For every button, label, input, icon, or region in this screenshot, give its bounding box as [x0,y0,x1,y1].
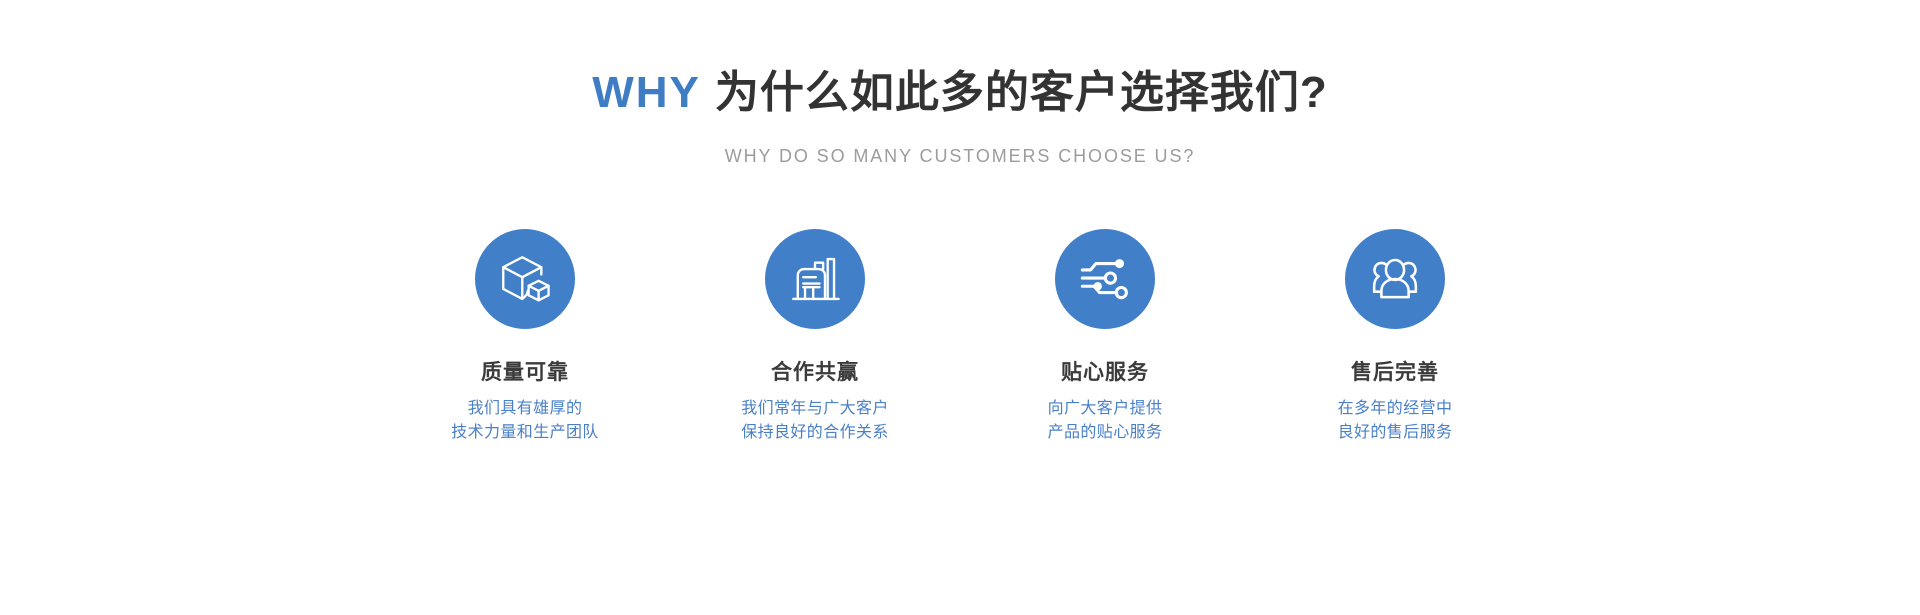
page-title: WHY为什么如此多的客户选择我们? [0,64,1920,122]
desc-line: 保持良好的合作关系 [741,421,889,445]
feature-card-title: 质量可靠 [481,360,569,386]
circuit-network-icon [1076,250,1134,308]
desc-line: 良好的售后服务 [1338,421,1453,445]
title-chinese-text: 为什么如此多的客户选择我们? [715,68,1328,117]
section-heading: WHY为什么如此多的客户选择我们? WHY DO SO MANY CUSTOME… [0,64,1920,167]
desc-line: 技术力量和生产团队 [451,421,599,445]
package-box-icon-circle [475,229,575,329]
desc-line: 产品的贴心服务 [1048,421,1163,445]
feature-card-description: 在多年的经营中 良好的售后服务 [1338,397,1453,445]
circuit-network-icon-circle [1055,229,1155,329]
feature-card-description: 我们具有雄厚的 技术力量和生产团队 [451,397,599,445]
package-box-icon [496,250,554,308]
factory-icon [786,250,844,308]
desc-line: 我们具有雄厚的 [451,397,599,421]
feature-card-title: 贴心服务 [1061,360,1149,386]
title-eyebrow-why: WHY [592,68,701,117]
feature-card-description: 向广大客户提供 产品的贴心服务 [1048,397,1163,445]
feature-card-service[interactable]: 贴心服务 向广大客户提供 产品的贴心服务 [980,229,1230,445]
desc-line: 我们常年与广大客户 [741,397,889,421]
feature-card-quality[interactable]: 质量可靠 我们具有雄厚的 技术力量和生产团队 [400,229,650,445]
users-group-icon-circle [1345,229,1445,329]
why-choose-us-section: WHY为什么如此多的客户选择我们? WHY DO SO MANY CUSTOME… [0,0,1920,615]
feature-card-title: 合作共赢 [771,360,859,386]
feature-cards-row: 质量可靠 我们具有雄厚的 技术力量和生产团队 [400,229,1520,445]
desc-line: 向广大客户提供 [1048,397,1163,421]
feature-card-aftersales[interactable]: 售后完善 在多年的经营中 良好的售后服务 [1270,229,1520,445]
desc-line: 在多年的经营中 [1338,397,1453,421]
section-subtitle: WHY DO SO MANY CUSTOMERS CHOOSE US? [0,145,1920,167]
feature-card-title: 售后完善 [1351,360,1439,386]
feature-card-description: 我们常年与广大客户 保持良好的合作关系 [741,397,889,445]
factory-icon-circle [765,229,865,329]
users-group-icon [1366,250,1424,308]
feature-card-cooperation[interactable]: 合作共赢 我们常年与广大客户 保持良好的合作关系 [690,229,940,445]
